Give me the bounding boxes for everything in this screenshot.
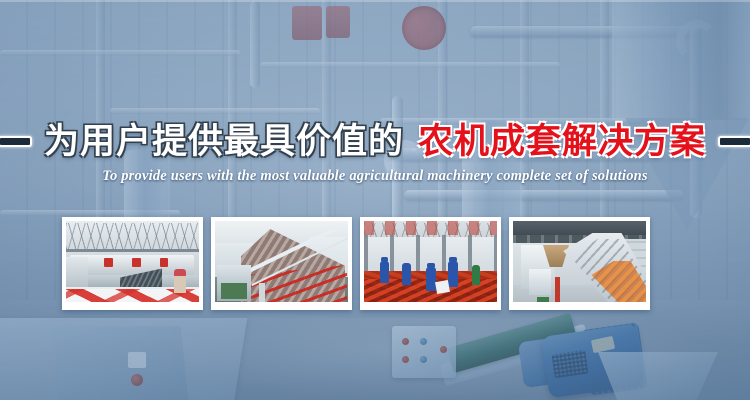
headline-right-dash — [720, 138, 750, 145]
background-factory-photo — [0, 0, 750, 400]
thumbnail-production-hall[interactable] — [62, 217, 203, 310]
thumbnail-workers-spreading-chili[interactable] — [360, 217, 501, 310]
headline-highlight-text: 农机成套解决方案 — [418, 124, 706, 159]
thumbnail-strip — [62, 217, 650, 310]
banner-top-edge — [0, 0, 750, 2]
headline-subtitle: To provide users with the most valuable … — [0, 168, 750, 185]
thumbnail-image-bucket-elevator — [513, 221, 646, 302]
hero-banner: 为用户提供最具价值的 农机成套解决方案 To provide users wit… — [0, 0, 750, 400]
thumbnail-image-chili-conveyor — [215, 221, 348, 302]
thumbnail-chili-conveyor[interactable] — [211, 217, 352, 310]
thumbnail-image-production-hall — [66, 221, 199, 302]
thumbnail-bucket-elevator[interactable] — [509, 217, 650, 310]
thumbnail-image-workers-spreading-chili — [364, 221, 497, 302]
headline-block: 为用户提供最具价值的 农机成套解决方案 To provide users wit… — [0, 124, 750, 185]
headline-left-dash — [0, 138, 30, 145]
headline-row: 为用户提供最具价值的 农机成套解决方案 — [0, 124, 750, 159]
background-vignette — [0, 0, 750, 400]
headline-primary-text: 为用户提供最具价值的 — [44, 124, 404, 159]
